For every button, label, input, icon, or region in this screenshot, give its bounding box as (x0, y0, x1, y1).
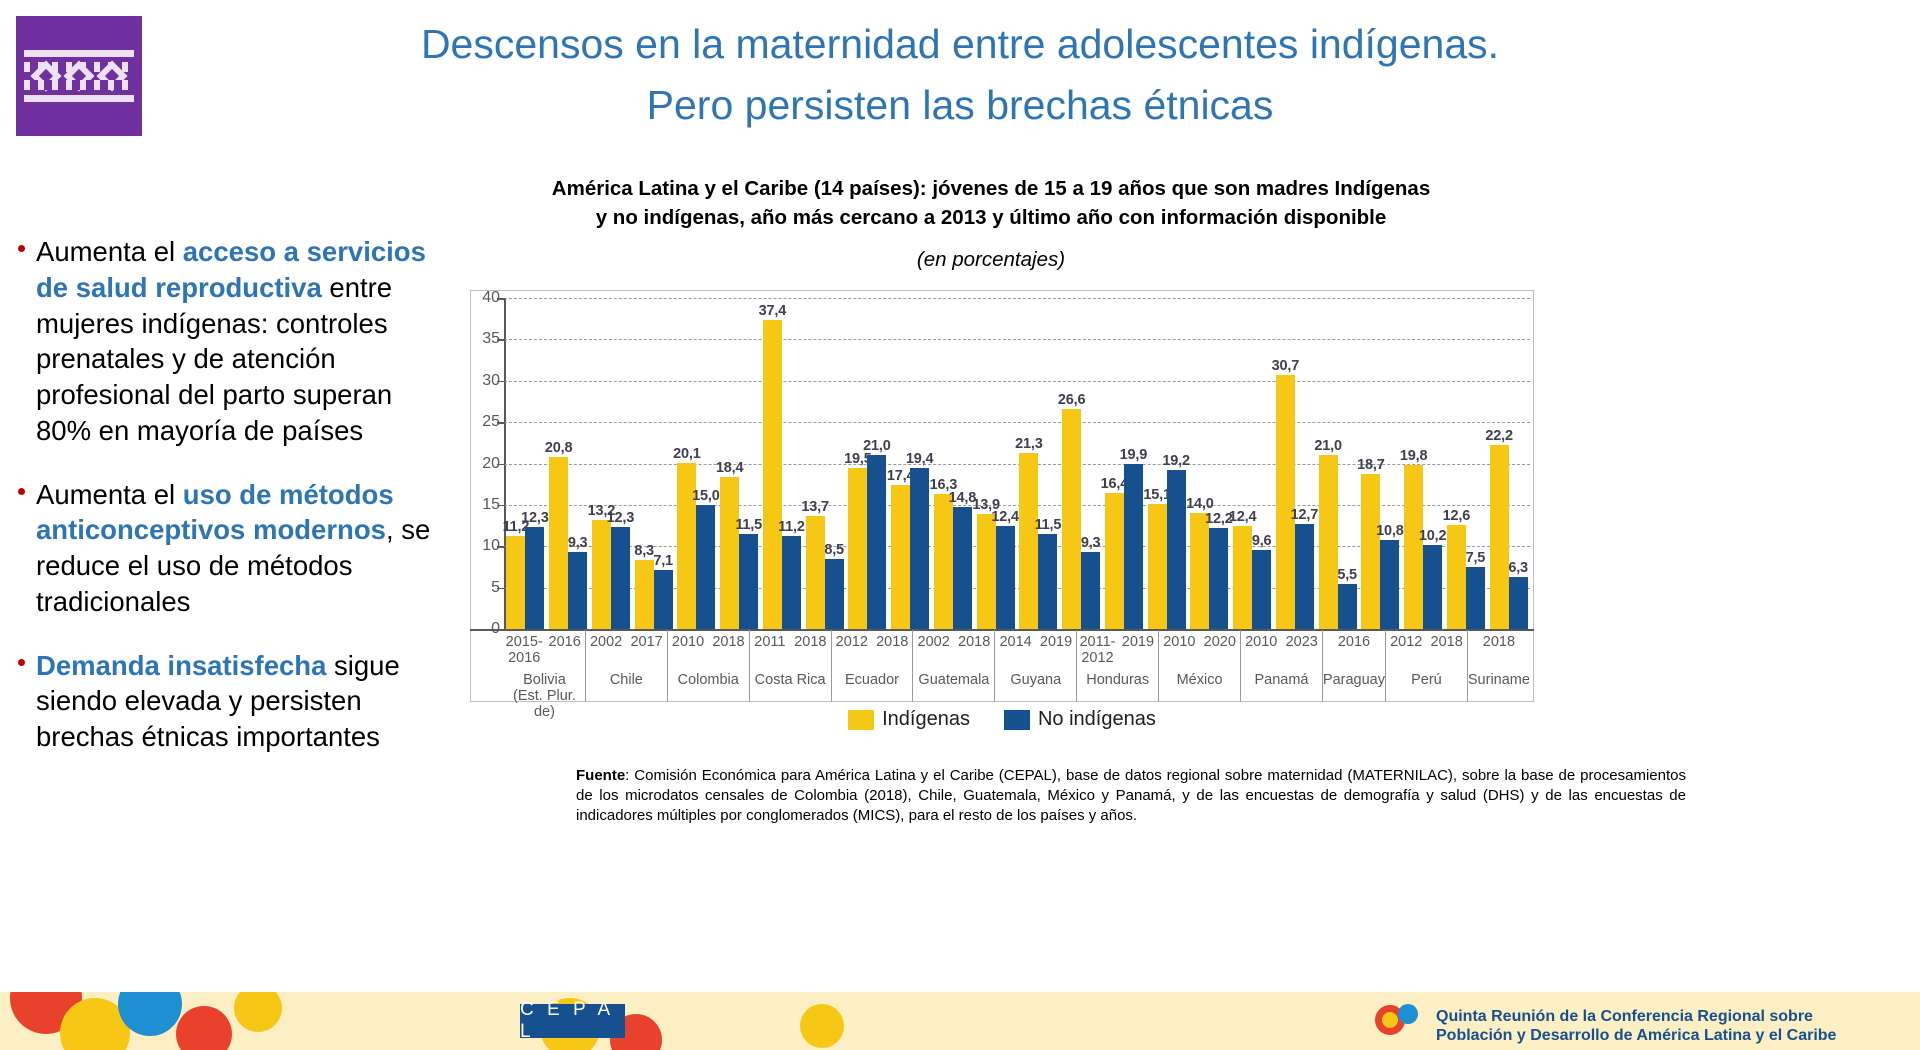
bar-value-label: 19,4 (906, 451, 933, 467)
bar-no-indigenas: 12,3 (525, 527, 544, 629)
x-axis-year-label: 2016 (1323, 630, 1385, 672)
footer-shape-circle (176, 1006, 232, 1050)
bar-group: 16,419,9 (1103, 298, 1146, 629)
legend-swatch (1004, 710, 1030, 730)
bar-value-label: 8,5 (824, 542, 844, 558)
bar-indigenas: 11,2 (506, 536, 525, 629)
bar-group: 19,810,2 (1402, 298, 1445, 629)
y-axis-tick-label: 10 (460, 537, 500, 555)
bar-slot: 19,2 (1167, 298, 1186, 629)
bar-indigenas: 22,2 (1490, 445, 1509, 629)
bar-slot: 21,3 (1019, 298, 1038, 629)
bar-value-label: 12,3 (607, 510, 634, 526)
bar-value-label: 7,1 (653, 553, 673, 569)
bar-indigenas: 37,4 (763, 320, 782, 629)
x-axis-country-cell: 20112018Costa Rica (750, 630, 832, 702)
bar-no-indigenas: 19,2 (1167, 470, 1186, 629)
bar-indigenas: 13,2 (592, 520, 611, 629)
conference-title-line-2: Población y Desarrollo de América Latina… (1436, 1026, 1916, 1046)
x-axis-year-row: 20022018 (913, 630, 994, 672)
bar-indigenas: 17,4 (891, 485, 910, 629)
bar-slot: 10,8 (1380, 298, 1399, 629)
bar-indigenas: 12,6 (1447, 525, 1466, 629)
bar-group: 12,67,5 (1445, 298, 1488, 629)
bar-value-label: 6,3 (1508, 560, 1528, 576)
bar-no-indigenas: 6,3 (1509, 577, 1528, 629)
bar-slot: 13,9 (977, 298, 996, 629)
bar-indigenas: 18,4 (720, 477, 739, 629)
chart-subtitle: (en porcentajes) (436, 248, 1546, 272)
conference-title: Quinta Reunión de la Conferencia Regiona… (1436, 1007, 1916, 1046)
x-axis-country-label: Ecuador (832, 672, 913, 688)
bar-group: 16,314,8 (932, 298, 975, 629)
bar-indigenas: 19,8 (1404, 465, 1423, 629)
bar-indigenas: 14,0 (1190, 513, 1209, 629)
x-axis-year-label: 2010 (1241, 630, 1281, 672)
bar-indigenas: 19,5 (848, 468, 867, 629)
bar-indigenas: 18,7 (1361, 474, 1380, 629)
bar-slot: 37,4 (763, 298, 782, 629)
bar-no-indigenas: 12,4 (996, 526, 1015, 629)
x-axis-country-label: Costa Rica (750, 672, 831, 688)
footer-bar: C E P A L Quinta Reunión de la Conferenc… (0, 992, 1920, 1050)
bar-slot: 12,2 (1209, 298, 1228, 629)
footer-shape-circle (800, 1004, 844, 1048)
bar-value-label: 15,0 (692, 488, 719, 504)
bar-group: 13,78,5 (803, 298, 846, 629)
x-axis-country-cell: 20102020México (1159, 630, 1241, 702)
page-title: Descensos en la maternidad entre adolesc… (200, 14, 1720, 135)
x-axis-year-label: 2012 (1386, 630, 1426, 672)
bar-group: 20,89,3 (547, 298, 590, 629)
bar-group: 8,37,1 (632, 298, 675, 629)
x-axis-year-label: 2016 (544, 630, 584, 672)
bar-slot: 14,0 (1190, 298, 1209, 629)
x-axis-year-row: 2011- 20122019 (1077, 630, 1158, 672)
bar-indigenas: 20,8 (549, 457, 568, 629)
bar-slot: 30,7 (1276, 298, 1295, 629)
bar-slot: 12,3 (611, 298, 630, 629)
bullet-text: Aumenta el (36, 479, 183, 510)
bar-slot: 9,6 (1252, 298, 1271, 629)
bullet-dot-icon (18, 659, 25, 666)
bar-value-label: 19,2 (1162, 453, 1189, 469)
bar-slot: 5,5 (1338, 298, 1357, 629)
x-axis-year-row: 20122018 (832, 630, 913, 672)
bar-slot: 22,2 (1490, 298, 1509, 629)
bar-group: 18,710,8 (1359, 298, 1402, 629)
bar-slot: 20,1 (677, 298, 696, 629)
x-axis-year-row: 20142019 (995, 630, 1076, 672)
bar-group: 11,212,3 (504, 298, 547, 629)
bar-no-indigenas: 14,8 (953, 507, 972, 629)
x-axis-country-cell: 2011- 20122019Honduras (1077, 630, 1159, 702)
bar-no-indigenas: 10,8 (1380, 540, 1399, 629)
legend-entry: Indígenas (848, 708, 970, 731)
legend-label: No indígenas (1038, 708, 1156, 731)
bar-slot: 9,3 (1081, 298, 1100, 629)
x-axis-country-cell: 20022017Chile (586, 630, 668, 702)
bar-value-label: 11,2 (778, 519, 805, 535)
bar-group: 13,212,3 (590, 298, 633, 629)
bullet-text: Aumenta el (36, 236, 183, 267)
bar-no-indigenas: 11,5 (739, 534, 758, 629)
bar-no-indigenas: 7,1 (654, 570, 673, 629)
bar-slot: 11,2 (782, 298, 801, 629)
bar-slot: 12,7 (1295, 298, 1314, 629)
bar-value-label: 12,7 (1291, 507, 1318, 523)
bullet-dot-icon (18, 245, 25, 252)
x-axis-country-cell: 20122018Ecuador (832, 630, 914, 702)
x-axis-year-row: 20112018 (750, 630, 831, 672)
x-axis-country-cell: 20102018Colombia (668, 630, 750, 702)
bar-group: 12,49,6 (1231, 298, 1274, 629)
x-axis-year-label: 2011- 2012 (1077, 630, 1117, 672)
bar-slot: 8,5 (825, 298, 844, 629)
bar-group: 13,912,4 (974, 298, 1017, 629)
bar-slot: 19,5 (848, 298, 867, 629)
bar-no-indigenas: 11,5 (1038, 534, 1057, 629)
x-axis-country-label: Honduras (1077, 672, 1158, 688)
bar-indigenas: 21,0 (1319, 455, 1338, 629)
bar-indigenas: 16,4 (1105, 493, 1124, 629)
x-axis-year-label: 2018 (954, 630, 994, 672)
bar-no-indigenas: 5,5 (1338, 584, 1357, 630)
bar-group: 30,712,7 (1274, 298, 1317, 629)
y-axis-tick-label: 30 (460, 372, 500, 390)
bar-value-label: 21,0 (863, 438, 890, 454)
x-axis-country-cell: 20102023Panamá (1241, 630, 1323, 702)
x-axis-country-label: Perú (1386, 672, 1467, 688)
x-axis-year-label: 2018 (1468, 630, 1530, 672)
bar-no-indigenas: 9,3 (568, 552, 587, 629)
bar-slot: 10,2 (1423, 298, 1442, 629)
bar-no-indigenas: 12,2 (1209, 528, 1228, 629)
bar-slot: 16,3 (934, 298, 953, 629)
x-axis-year-label: 2017 (626, 630, 666, 672)
bar-slot: 21,0 (1319, 298, 1338, 629)
bar-no-indigenas: 19,9 (1124, 464, 1143, 629)
x-axis-year-label: 2018 (1426, 630, 1466, 672)
x-axis-year-row: 2015- 20162016 (504, 630, 585, 672)
bar-group: 17,419,4 (889, 298, 932, 629)
logo-zigzag-bottom (24, 80, 134, 90)
source-text: : Comisión Económica para América Latina… (576, 767, 1686, 824)
x-axis-country-cell: 20142019Guyana (995, 630, 1077, 702)
bar-slot: 13,2 (592, 298, 611, 629)
bar-no-indigenas: 9,6 (1252, 550, 1271, 629)
legend-entry: No indígenas (1004, 708, 1156, 731)
conference-emblem-icon (1370, 994, 1426, 1046)
bar-indigenas: 16,3 (934, 494, 953, 629)
x-axis-category-labels: 2015- 20162016Bolivia (Est. Plur. de)200… (504, 630, 1530, 702)
bar-group: 37,411,2 (761, 298, 804, 629)
x-axis-year-label: 2018 (872, 630, 912, 672)
bar-slot: 14,8 (953, 298, 972, 629)
bar-value-label: 9,6 (1252, 533, 1272, 549)
x-axis-country-label: Chile (586, 672, 667, 688)
bar-group: 21,311,5 (1017, 298, 1060, 629)
source-note: Fuente: Comisión Económica para América … (576, 766, 1686, 826)
bar-value-label: 9,3 (1081, 535, 1101, 551)
bar-no-indigenas: 8,5 (825, 559, 844, 629)
bar-slot: 16,4 (1105, 298, 1124, 629)
bar-no-indigenas: 7,5 (1466, 567, 1485, 629)
bar-series-container: 11,212,320,89,313,212,38,37,120,115,018,… (504, 298, 1530, 629)
bar-slot: 7,1 (654, 298, 673, 629)
y-axis-tick-label: 15 (460, 496, 500, 514)
x-axis-country-label: Colombia (668, 672, 749, 688)
bar-indigenas: 15,1 (1148, 504, 1167, 629)
bullet-item: Aumenta el acceso a servicios de salud r… (14, 234, 454, 449)
bar-slot: 12,4 (996, 298, 1015, 629)
y-axis-tick-label: 25 (460, 413, 500, 431)
bar-value-label: 8,3 (634, 543, 654, 559)
x-axis-country-label: Guatemala (913, 672, 994, 688)
x-axis-year-label: 2023 (1281, 630, 1321, 672)
bar-group: 19,521,0 (846, 298, 889, 629)
indigenous-pattern-logo (16, 16, 142, 136)
x-axis-country-cell: 20022018Guatemala (913, 630, 995, 702)
x-axis-year-label: 2002 (913, 630, 953, 672)
cepal-logo: C E P A L (520, 1004, 625, 1038)
bullet-highlight-text: Demanda insatisfecha (36, 650, 326, 681)
bar-slot: 9,3 (568, 298, 587, 629)
logo-band-top (24, 50, 134, 57)
x-axis-year-label: 2012 (832, 630, 872, 672)
bar-value-label: 11,5 (735, 517, 762, 533)
bar-slot: 20,8 (549, 298, 568, 629)
bar-slot: 21,0 (867, 298, 886, 629)
y-axis-tick-label: 35 (460, 330, 500, 348)
bar-slot: 12,3 (525, 298, 544, 629)
bar-value-label: 9,3 (568, 535, 588, 551)
bar-slot: 18,7 (1361, 298, 1380, 629)
y-axis-tick-label: 5 (460, 579, 500, 597)
x-axis-year-row: 2018 (1468, 630, 1530, 672)
x-axis-year-label: 2019 (1118, 630, 1158, 672)
x-axis-year-label: 2002 (586, 630, 626, 672)
bar-value-label: 19,9 (1120, 447, 1147, 463)
chart-legend: IndígenasNo indígenas (470, 708, 1534, 731)
bar-slot: 11,2 (506, 298, 525, 629)
bar-no-indigenas: 19,4 (910, 468, 929, 629)
logo-band-bottom (24, 95, 134, 102)
x-axis-year-row: 20022017 (586, 630, 667, 672)
bar-slot: 13,7 (806, 298, 825, 629)
bar-no-indigenas: 21,0 (867, 455, 886, 629)
bar-slot: 12,4 (1233, 298, 1252, 629)
x-axis-year-label: 2018 (790, 630, 830, 672)
x-axis-year-label: 2020 (1200, 630, 1240, 672)
x-axis-country-label: Guyana (995, 672, 1076, 688)
bullet-item: Demanda insatisfecha sigue siendo elevad… (14, 648, 454, 755)
bar-indigenas: 26,6 (1062, 409, 1081, 629)
bar-no-indigenas: 12,7 (1295, 524, 1314, 629)
bar-slot: 15,0 (696, 298, 715, 629)
bar-no-indigenas: 11,2 (782, 536, 801, 629)
bar-no-indigenas: 10,2 (1423, 545, 1442, 629)
x-axis-year-label: 2010 (668, 630, 708, 672)
bar-slot: 11,5 (1038, 298, 1057, 629)
bar-group: 15,119,2 (1145, 298, 1188, 629)
bar-slot: 18,4 (720, 298, 739, 629)
bar-value-label: 11,5 (1035, 517, 1062, 533)
source-label: Fuente (576, 767, 625, 784)
bar-slot: 19,4 (910, 298, 929, 629)
x-axis-year-label: 2014 (995, 630, 1035, 672)
chart-title: América Latina y el Caribe (14 países): … (436, 174, 1546, 232)
x-axis-year-row: 20102020 (1159, 630, 1240, 672)
bullet-list: Aumenta el acceso a servicios de salud r… (14, 234, 454, 783)
x-axis-country-cell: 2016Paraguay (1323, 630, 1386, 702)
bar-value-label: 12,4 (991, 509, 1018, 525)
bar-slot: 12,6 (1447, 298, 1466, 629)
chart-title-line-2: y no indígenas, año más cercano a 2013 y… (436, 203, 1546, 232)
legend-label: Indígenas (882, 708, 970, 731)
x-axis-year-row: 20122018 (1386, 630, 1467, 672)
bar-group: 14,012,2 (1188, 298, 1231, 629)
bar-slot: 19,9 (1124, 298, 1143, 629)
x-axis-year-row: 2016 (1323, 630, 1385, 672)
bar-no-indigenas: 15,0 (696, 505, 715, 629)
bar-value-label: 10,2 (1419, 528, 1446, 544)
bar-indigenas: 13,9 (977, 514, 996, 629)
bar-group: 20,115,0 (675, 298, 718, 629)
bar-group: 18,411,5 (718, 298, 761, 629)
x-axis-country-cell: 2018Suriname (1468, 630, 1530, 702)
x-axis-year-label: 2010 (1159, 630, 1199, 672)
bar-indigenas: 13,7 (806, 516, 825, 629)
bullet-item: Aumenta el uso de métodos anticonceptivo… (14, 477, 454, 620)
bar-value-label: 12,3 (521, 510, 548, 526)
bar-slot: 7,5 (1466, 298, 1485, 629)
bar-value-label: 10,8 (1376, 523, 1403, 539)
bar-indigenas: 21,3 (1019, 453, 1038, 629)
chart-title-line-1: América Latina y el Caribe (14 países): … (436, 174, 1546, 203)
bullet-dot-icon (18, 488, 25, 495)
x-axis-country-label: México (1159, 672, 1240, 688)
x-axis-year-label: 2019 (1036, 630, 1076, 672)
bar-slot: 8,3 (635, 298, 654, 629)
bar-slot: 6,3 (1509, 298, 1528, 629)
x-axis-country-label: Paraguay (1323, 672, 1385, 688)
x-axis-country-label: Suriname (1468, 672, 1530, 688)
x-axis-country-label: Panamá (1241, 672, 1322, 688)
bar-indigenas: 30,7 (1276, 375, 1295, 629)
bar-slot: 19,8 (1404, 298, 1423, 629)
x-axis-year-row: 20102018 (668, 630, 749, 672)
x-axis-country-cell: 20122018Perú (1386, 630, 1468, 702)
bar-no-indigenas: 9,3 (1081, 552, 1100, 629)
bar-slot: 26,6 (1062, 298, 1081, 629)
bar-value-label: 5,5 (1337, 567, 1357, 583)
legend-swatch (848, 710, 874, 730)
y-axis-tick-label: 40 (460, 289, 500, 307)
bar-indigenas: 12,4 (1233, 526, 1252, 629)
bar-slot: 11,5 (739, 298, 758, 629)
footer-shape-circle (234, 992, 282, 1032)
conference-title-line-1: Quinta Reunión de la Conferencia Regiona… (1436, 1007, 1916, 1027)
x-axis-year-row: 20102023 (1241, 630, 1322, 672)
bar-group: 22,26,3 (1487, 298, 1530, 629)
x-axis-year-label: 2011 (750, 630, 790, 672)
x-axis-year-label: 2015- 2016 (504, 630, 544, 672)
bar-value-label: 7,5 (1466, 550, 1486, 566)
bar-group: 26,69,3 (1060, 298, 1103, 629)
chart-plot-area: 0510152025303540 11,212,320,89,313,212,3… (504, 298, 1530, 629)
page-title-line-2: Pero persisten las brechas étnicas (200, 75, 1720, 136)
bar-no-indigenas: 12,3 (611, 527, 630, 629)
bar-group: 21,05,5 (1316, 298, 1359, 629)
x-axis-country-cell: 2015- 20162016Bolivia (Est. Plur. de) (504, 630, 586, 702)
y-axis-tick-label: 20 (460, 455, 500, 473)
x-axis-year-label: 2018 (708, 630, 748, 672)
page-title-line-1: Descensos en la maternidad entre adolesc… (200, 14, 1720, 75)
bar-indigenas: 8,3 (635, 560, 654, 629)
